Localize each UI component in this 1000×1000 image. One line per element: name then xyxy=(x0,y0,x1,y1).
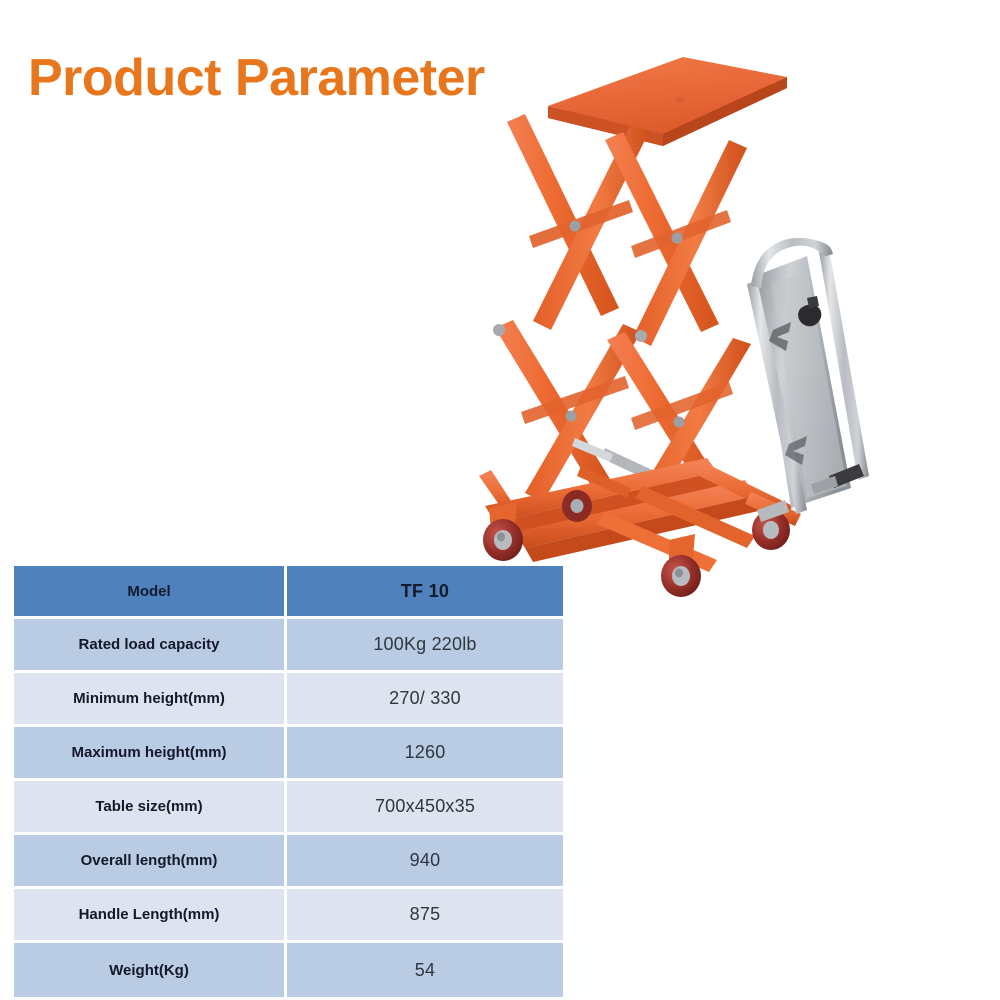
table-row: Minimum height(mm) 270/ 330 xyxy=(14,673,563,727)
table-row: Table size(mm) 700x450x35 xyxy=(14,781,563,835)
row-label-weight: Weight(Kg) xyxy=(14,943,287,997)
row-label-handle-length: Handle Length(mm) xyxy=(14,889,287,943)
row-label-table-size: Table size(mm) xyxy=(14,781,287,835)
page-title: Product Parameter xyxy=(28,52,485,104)
table-row: Handle Length(mm) 875 xyxy=(14,889,563,943)
push-handle xyxy=(747,238,869,522)
row-value-weight: 54 xyxy=(287,943,563,997)
table-body: Rated load capacity 100Kg 220lb Minimum … xyxy=(14,619,563,997)
row-label-minimum-height: Minimum height(mm) xyxy=(14,673,287,727)
column-header-model: Model xyxy=(14,566,287,619)
base-frame xyxy=(479,458,801,572)
table-row: Overall length(mm) 940 xyxy=(14,835,563,889)
row-value-handle-length: 875 xyxy=(287,889,563,943)
table-row: Maximum height(mm) 1260 xyxy=(14,727,563,781)
scissor-lift-illustration xyxy=(455,40,935,600)
row-value-overall-length: 940 xyxy=(287,835,563,889)
table-row: Rated load capacity 100Kg 220lb xyxy=(14,619,563,673)
product-image xyxy=(455,40,935,600)
scissor-mechanism-upper xyxy=(507,114,747,346)
row-value-minimum-height: 270/ 330 xyxy=(287,673,563,727)
lift-platform xyxy=(548,57,787,146)
row-label-maximum-height: Maximum height(mm) xyxy=(14,727,287,781)
product-parameter-table: Model TF 10 Rated load capacity 100Kg 22… xyxy=(14,566,563,997)
row-label-rated-load-capacity: Rated load capacity xyxy=(14,619,287,673)
row-label-overall-length: Overall length(mm) xyxy=(14,835,287,889)
row-value-table-size: 700x450x35 xyxy=(287,781,563,835)
row-value-maximum-height: 1260 xyxy=(287,727,563,781)
row-value-rated-load-capacity: 100Kg 220lb xyxy=(287,619,563,673)
table-row: Weight(Kg) 54 xyxy=(14,943,563,997)
